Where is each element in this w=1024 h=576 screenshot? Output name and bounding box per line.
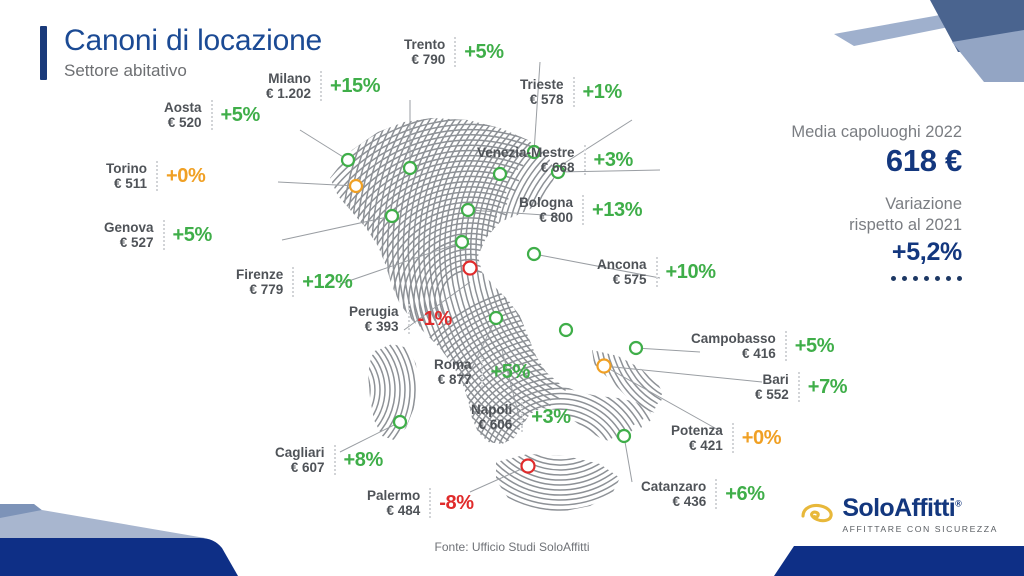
city-name: Roma <box>434 357 472 372</box>
city-name: Venezia-Mestre <box>477 145 575 160</box>
callout-cagliari[interactable]: Cagliari€ 607 +8% <box>275 444 383 476</box>
callout-bologna[interactable]: Bologna€ 800 +13% <box>519 194 642 226</box>
divider <box>163 220 165 250</box>
city-name: Napoli <box>471 402 512 417</box>
marker-perugia[interactable] <box>464 262 477 275</box>
divider <box>334 445 336 475</box>
callout-roma[interactable]: Roma€ 877 +5% <box>434 356 530 388</box>
city-price: € 484 <box>367 503 420 518</box>
city-change: -8% <box>439 492 473 515</box>
divider <box>408 304 410 334</box>
city-change: +7% <box>808 376 847 399</box>
city-price: € 877 <box>434 372 472 387</box>
city-price: € 393 <box>349 319 399 334</box>
divider <box>292 267 294 297</box>
city-change: +5% <box>221 104 260 127</box>
callout-trento[interactable]: Trento€ 790 +5% <box>404 36 504 68</box>
city-change: +8% <box>344 449 383 472</box>
marker-roma[interactable] <box>490 312 502 324</box>
city-price: € 511 <box>106 176 147 191</box>
city-change: +5% <box>464 41 503 64</box>
soloaffitti-logo: SoloAffitti® AFFITTARE CON SICUREZZA <box>801 496 998 534</box>
city-price: € 1.202 <box>266 86 311 101</box>
divider <box>454 37 456 67</box>
city-change: +13% <box>592 199 642 222</box>
city-name: Perugia <box>349 304 399 319</box>
infographic-canvas: Canoni di locazione Settore abitativo Me… <box>0 0 1024 576</box>
city-name: Bologna <box>519 195 573 210</box>
city-name: Potenza <box>671 423 723 438</box>
city-price: € 575 <box>597 272 647 287</box>
source-note: Fonte: Ufficio Studi SoloAffitti <box>0 540 1024 554</box>
divider <box>320 71 322 101</box>
logo-registered: ® <box>955 499 961 509</box>
city-change: +5% <box>173 224 212 247</box>
city-name: Milano <box>266 71 311 86</box>
callout-ancona[interactable]: Ancona€ 575 +10% <box>597 256 716 288</box>
callout-firenze[interactable]: Firenze€ 779 +12% <box>236 266 352 298</box>
city-change: +0% <box>742 427 781 450</box>
city-name: Bari <box>755 372 789 387</box>
city-price: € 421 <box>671 438 723 453</box>
city-price: € 800 <box>519 210 573 225</box>
city-name: Trento <box>404 37 445 52</box>
city-price: € 779 <box>236 282 283 297</box>
marker-cagliari[interactable] <box>394 416 406 428</box>
divider <box>798 372 800 402</box>
city-price: € 668 <box>477 160 575 175</box>
city-change: -1% <box>418 308 452 331</box>
italy-map <box>0 0 1024 576</box>
city-name: Catanzaro <box>641 479 706 494</box>
divider <box>211 100 213 130</box>
city-price: € 416 <box>691 346 776 361</box>
callout-venezia-mestre[interactable]: Venezia-Mestre€ 668 +3% <box>477 144 633 176</box>
marker-campobasso[interactable] <box>560 324 572 336</box>
city-price: € 520 <box>164 115 202 130</box>
marker-palermo[interactable] <box>522 460 535 473</box>
city-price: € 578 <box>520 92 564 107</box>
divider <box>481 357 483 387</box>
city-change: +15% <box>330 75 380 98</box>
city-price: € 790 <box>404 52 445 67</box>
city-name: Campobasso <box>691 331 776 346</box>
city-price: € 527 <box>104 235 154 250</box>
city-change: +1% <box>583 81 622 104</box>
callout-palermo[interactable]: Palermo€ 484 -8% <box>367 487 474 519</box>
city-change: +3% <box>594 149 633 172</box>
marker-firenze[interactable] <box>456 236 468 248</box>
callout-catanzaro[interactable]: Catanzaro€ 436 +6% <box>641 478 765 510</box>
city-change: +0% <box>166 165 205 188</box>
city-change: +6% <box>725 483 764 506</box>
divider <box>573 77 575 107</box>
city-price: € 606 <box>471 417 512 432</box>
swoosh-icon <box>801 503 835 529</box>
callout-bari[interactable]: Bari€ 552 +7% <box>755 371 847 403</box>
marker-torino[interactable] <box>350 180 362 192</box>
city-price: € 436 <box>641 494 706 509</box>
logo-tagline: AFFITTARE CON SICUREZZA <box>842 524 998 534</box>
marker-potenza[interactable] <box>598 360 611 373</box>
divider <box>732 423 734 453</box>
marker-ancona[interactable] <box>528 248 540 260</box>
callout-aosta[interactable]: Aosta€ 520 +5% <box>164 99 260 131</box>
city-change: +10% <box>666 261 716 284</box>
marker-catanzaro[interactable] <box>618 430 630 442</box>
city-price: € 607 <box>275 460 325 475</box>
callout-torino[interactable]: Torino€ 511 +0% <box>106 160 205 192</box>
city-name: Ancona <box>597 257 647 272</box>
city-name: Aosta <box>164 100 202 115</box>
map-hatch-sicily <box>454 426 668 541</box>
marker-milano[interactable] <box>404 162 416 174</box>
city-name: Trieste <box>520 77 564 92</box>
divider <box>582 195 584 225</box>
callout-napoli[interactable]: Napoli€ 606 +3% <box>471 401 571 433</box>
divider <box>715 479 717 509</box>
city-change: +3% <box>531 406 570 429</box>
divider <box>156 161 158 191</box>
callout-potenza[interactable]: Potenza€ 421 +0% <box>671 422 781 454</box>
city-price: € 552 <box>755 387 789 402</box>
divider <box>584 145 586 175</box>
divider <box>429 488 431 518</box>
callout-genova[interactable]: Genova€ 527 +5% <box>104 219 212 251</box>
logo-name: SoloAffitti <box>842 494 955 522</box>
divider <box>785 331 787 361</box>
marker-bari[interactable] <box>630 342 642 354</box>
city-change: +12% <box>302 271 352 294</box>
city-name: Torino <box>106 161 147 176</box>
city-name: Firenze <box>236 267 283 282</box>
divider <box>656 257 658 287</box>
callout-trieste[interactable]: Trieste€ 578 +1% <box>520 76 622 108</box>
marker-genova[interactable] <box>386 210 398 222</box>
marker-bologna[interactable] <box>462 204 474 216</box>
city-name: Palermo <box>367 488 420 503</box>
callout-campobasso[interactable]: Campobasso€ 416 +5% <box>691 330 834 362</box>
callout-milano[interactable]: Milano€ 1.202 +15% <box>266 70 380 102</box>
city-change: +5% <box>491 361 530 384</box>
city-name: Cagliari <box>275 445 325 460</box>
city-name: Genova <box>104 220 154 235</box>
callout-perugia[interactable]: Perugia€ 393 -1% <box>349 303 452 335</box>
city-change: +5% <box>795 335 834 358</box>
divider <box>521 402 523 432</box>
marker-aosta[interactable] <box>342 154 354 166</box>
